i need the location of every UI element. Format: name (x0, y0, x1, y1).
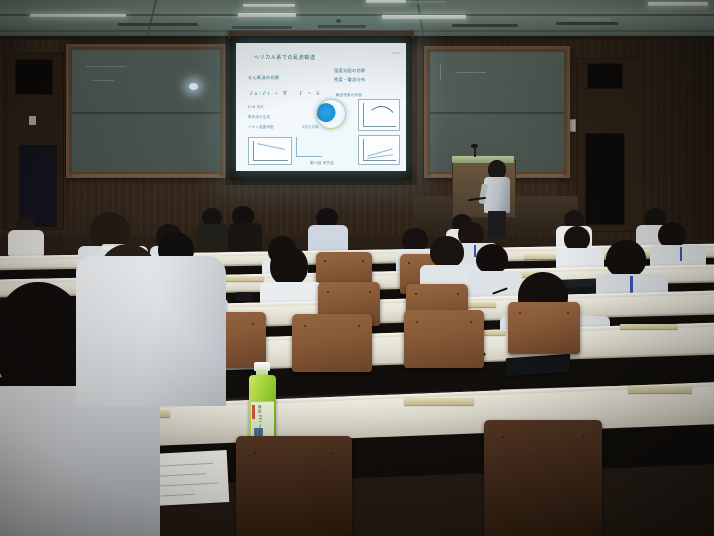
side-door-right[interactable] (576, 58, 644, 232)
plot-bottom-left (248, 137, 292, 165)
presenter-torso (484, 177, 510, 213)
sphere-diagram (316, 99, 346, 129)
lecture-hall-photo: 非常口 ヘリカル系での乱流輸送 せん断流の効果 温度勾配の効果 密度・電流分布 … (0, 0, 714, 536)
chair (236, 436, 352, 536)
nameplate-strip (620, 324, 678, 329)
side-door-left[interactable] (6, 52, 64, 230)
strip-light-9 (648, 2, 708, 6)
slide-bullet-2: イオン温度勾配 (248, 125, 274, 130)
chair (508, 302, 580, 354)
slide-equation: ∂n/∂t + ∇ · Γ = S (250, 91, 321, 97)
nameplate-strip (220, 276, 264, 281)
strip-light-7 (366, 0, 406, 3)
door-lower-panel (19, 145, 57, 227)
strip-light-2 (238, 13, 296, 17)
slide-bullet-3: 輸送係数の評価 (336, 93, 362, 98)
camera-case (236, 292, 252, 301)
projected-slide: ヘリカル系での乱流輸送 せん断流の効果 温度勾配の効果 密度・電流分布 ∂n/∂… (236, 43, 406, 171)
slide-logo: NIFS (392, 51, 400, 55)
strip-light-8 (566, 18, 610, 21)
whiteboard-left (66, 44, 226, 178)
light-reflection (189, 83, 198, 90)
plot-top-right (358, 99, 400, 131)
plot-mid-right (358, 135, 400, 165)
chair (292, 314, 372, 372)
strip-light-4 (243, 4, 295, 7)
nameplate-strip (628, 386, 692, 393)
microphone-icon (471, 144, 478, 148)
door-window-icon (587, 63, 623, 89)
slide-right-heading: 温度勾配の効果 (334, 68, 365, 74)
slide-bullet-0: E×B 流れ (248, 105, 264, 110)
door-lower-panel (585, 133, 625, 225)
door-window-icon (15, 59, 53, 95)
attendee-torso (0, 386, 160, 536)
handout-paper (151, 450, 230, 506)
microphone-stem (474, 147, 476, 157)
slide-bullet-1: 帯状流の生成 (248, 115, 270, 120)
lectern-top (452, 156, 514, 163)
slide-right-subheading: 密度・電流分布 (334, 77, 365, 83)
slide-sphere-caption: 3次元平衡 (302, 125, 319, 130)
strip-light-6 (382, 15, 466, 19)
chair (404, 310, 484, 368)
slide-footer: 第10回 研究会 (310, 161, 334, 166)
light-switch[interactable] (29, 116, 36, 125)
nameplate-strip (404, 398, 474, 405)
strip-light-5 (404, 1, 446, 4)
bottle-label-text: 緑茶 PET bottle (258, 405, 263, 436)
projection-screen: ヘリカル系での乱流輸送 せん断流の効果 温度勾配の効果 密度・電流分布 ∂n/∂… (230, 36, 412, 180)
slide-title: ヘリカル系での乱流輸送 (254, 55, 316, 63)
strip-light-1 (30, 14, 126, 17)
presenter-legs (488, 211, 506, 239)
slide-left-heading: せん断流の効果 (248, 75, 279, 81)
chair (484, 420, 602, 536)
